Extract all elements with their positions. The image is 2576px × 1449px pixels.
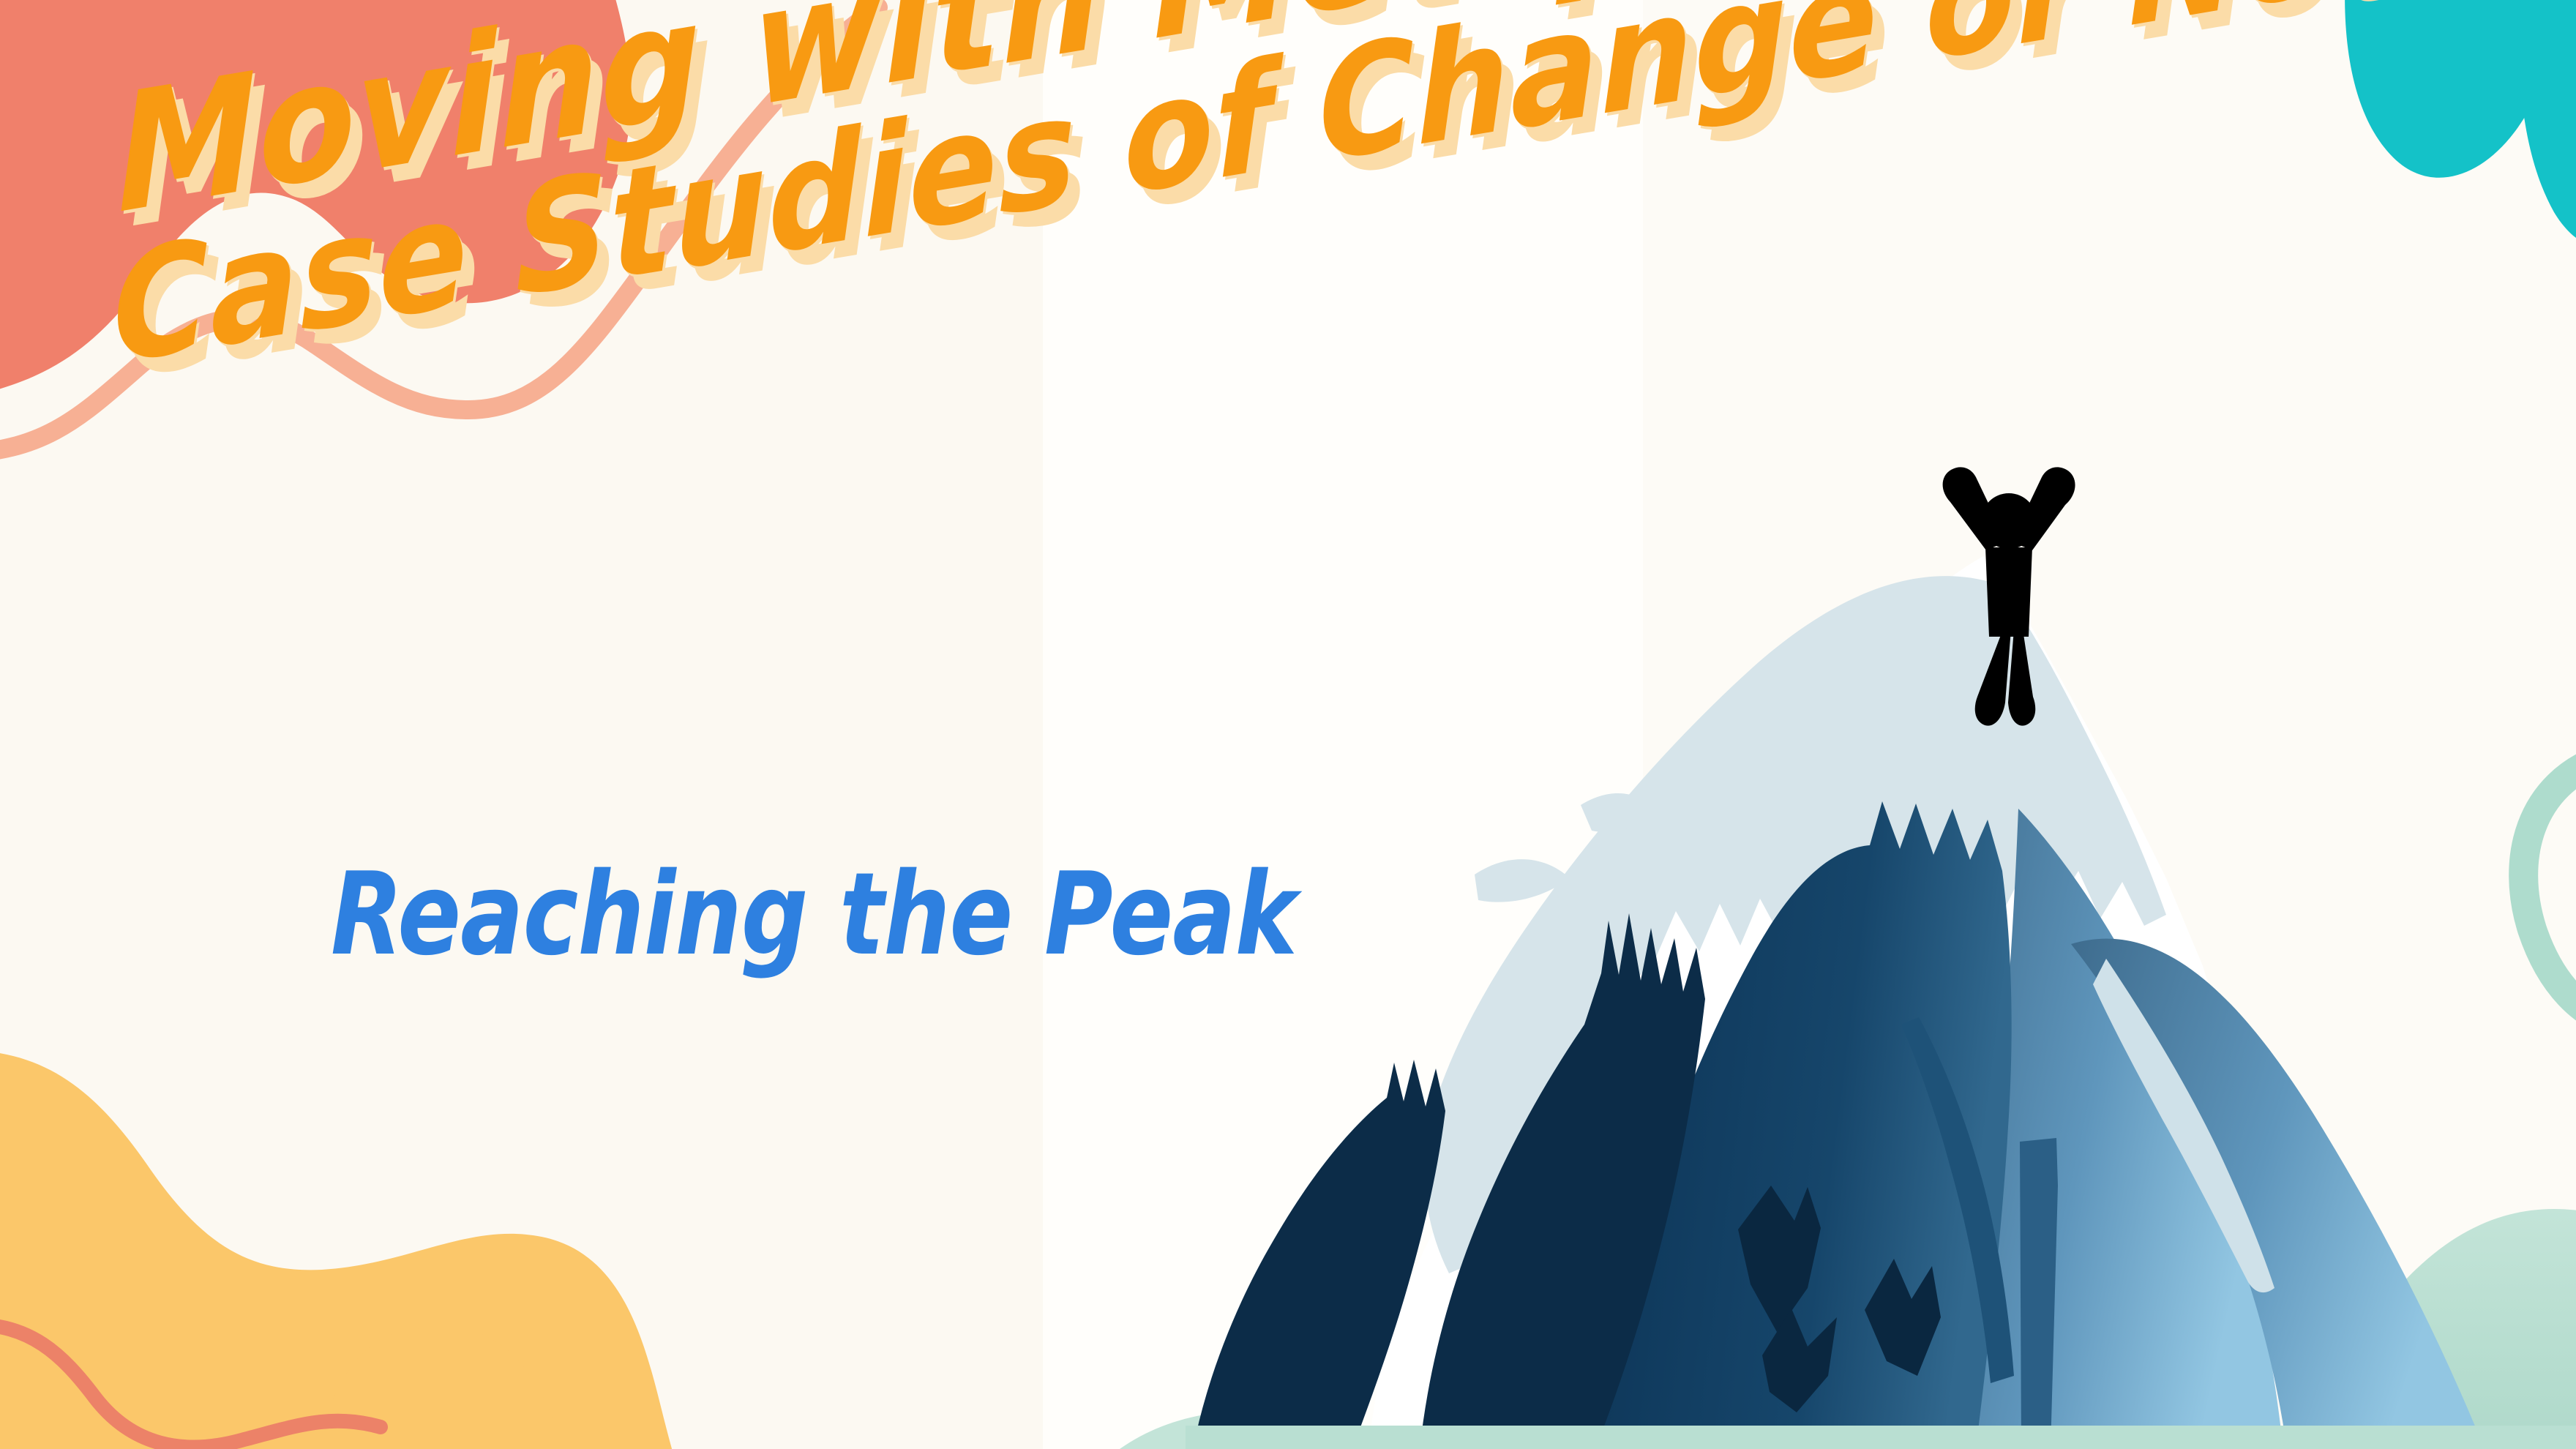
presentation-slide: Moving with Metaphor Case Studies of Cha… xyxy=(0,0,2576,1449)
climber-torso xyxy=(1985,547,2032,637)
mountain-peak-illustration xyxy=(0,0,2576,1449)
mint-strip-bottom xyxy=(1186,1426,2576,1449)
